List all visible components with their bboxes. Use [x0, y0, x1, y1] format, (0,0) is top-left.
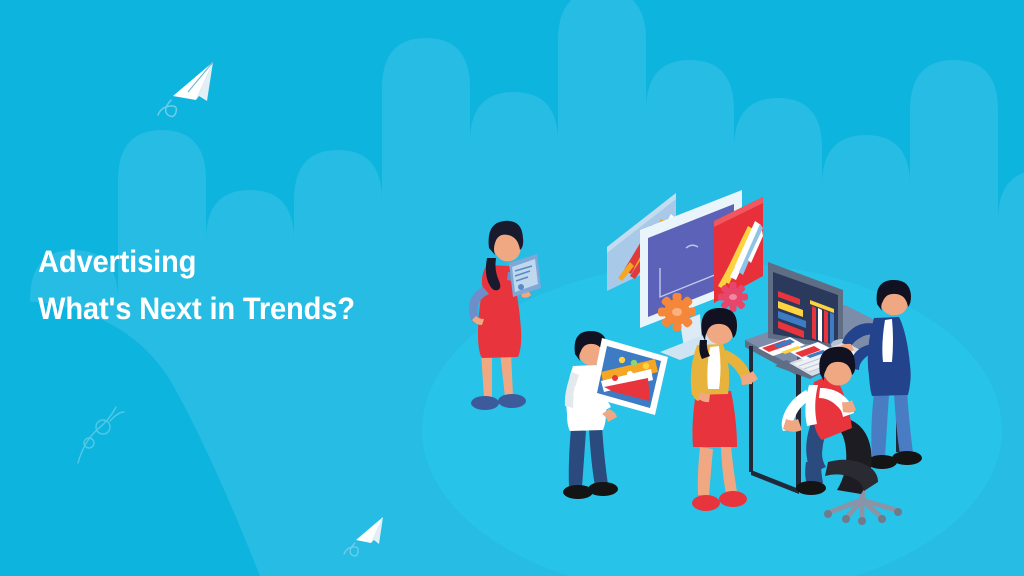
gear-orange-icon: [658, 293, 696, 331]
advertising-banner: Advertising What's Next in Trends?: [0, 0, 1024, 576]
illustration-layer: [0, 0, 1024, 576]
paper-plane-small-icon: [344, 517, 383, 556]
tablet-device: [509, 254, 541, 297]
swirl-flourish-icon: [78, 407, 124, 463]
gear-pink-icon: [718, 282, 748, 312]
paper-plane-large-icon: [158, 62, 213, 116]
person-woman-with-tablet: [469, 221, 541, 410]
hero-monitor-group: [607, 190, 763, 360]
person-man-holding-poster: [563, 331, 668, 499]
